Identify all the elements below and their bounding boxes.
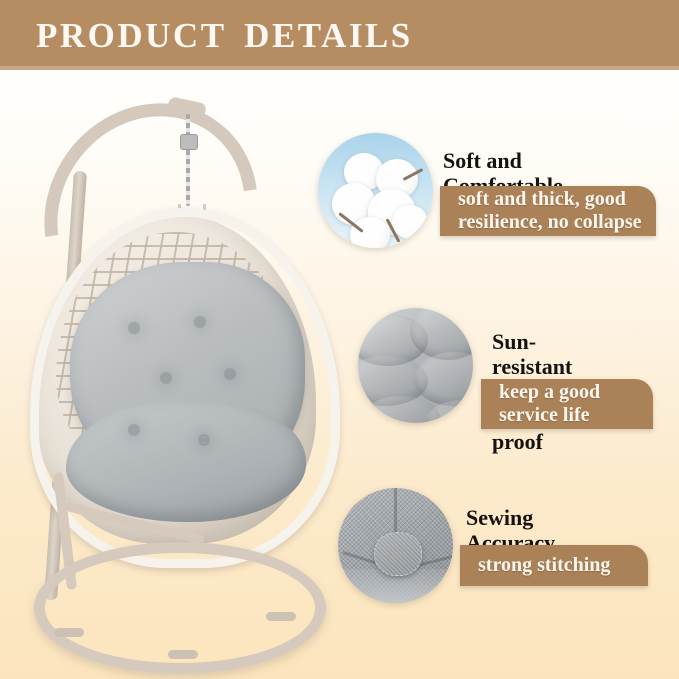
cushion-tuft: [128, 322, 140, 334]
feature-banner: keep a good service life: [481, 379, 653, 429]
page-title: PRODUCT DETAILS: [36, 16, 413, 56]
header-banner: PRODUCT DETAILS: [0, 0, 679, 70]
product-details-infographic: PRODUCT DETAILS: [0, 0, 679, 679]
cushion-tuft: [194, 316, 206, 328]
seat-cushion: [66, 402, 306, 522]
cushion-tuft: [160, 372, 172, 384]
cushion-tuft: [128, 424, 140, 436]
cushion-tuft: [198, 434, 210, 446]
stand-foot: [168, 650, 198, 659]
product-photo: [8, 72, 338, 672]
stitched-button: [374, 532, 422, 576]
chain-clip: [180, 134, 198, 150]
cushion-tuft: [224, 368, 236, 380]
feature-banner: strong stitching: [460, 545, 648, 586]
hanging-chain: [186, 114, 190, 206]
feature-banner: soft and thick, good resilience, no coll…: [440, 186, 656, 236]
feature-banner-text: keep a good service life: [481, 381, 600, 427]
cotton-bolls-photo: [318, 133, 433, 248]
stand-foot: [266, 612, 296, 621]
tufted-cushion-closeup-photo: [358, 308, 473, 423]
feature-banner-text: soft and thick, good resilience, no coll…: [440, 188, 642, 234]
stitched-fabric-closeup-photo: [338, 488, 453, 603]
feature-banner-text: strong stitching: [460, 554, 610, 577]
stand-foot: [54, 628, 84, 637]
